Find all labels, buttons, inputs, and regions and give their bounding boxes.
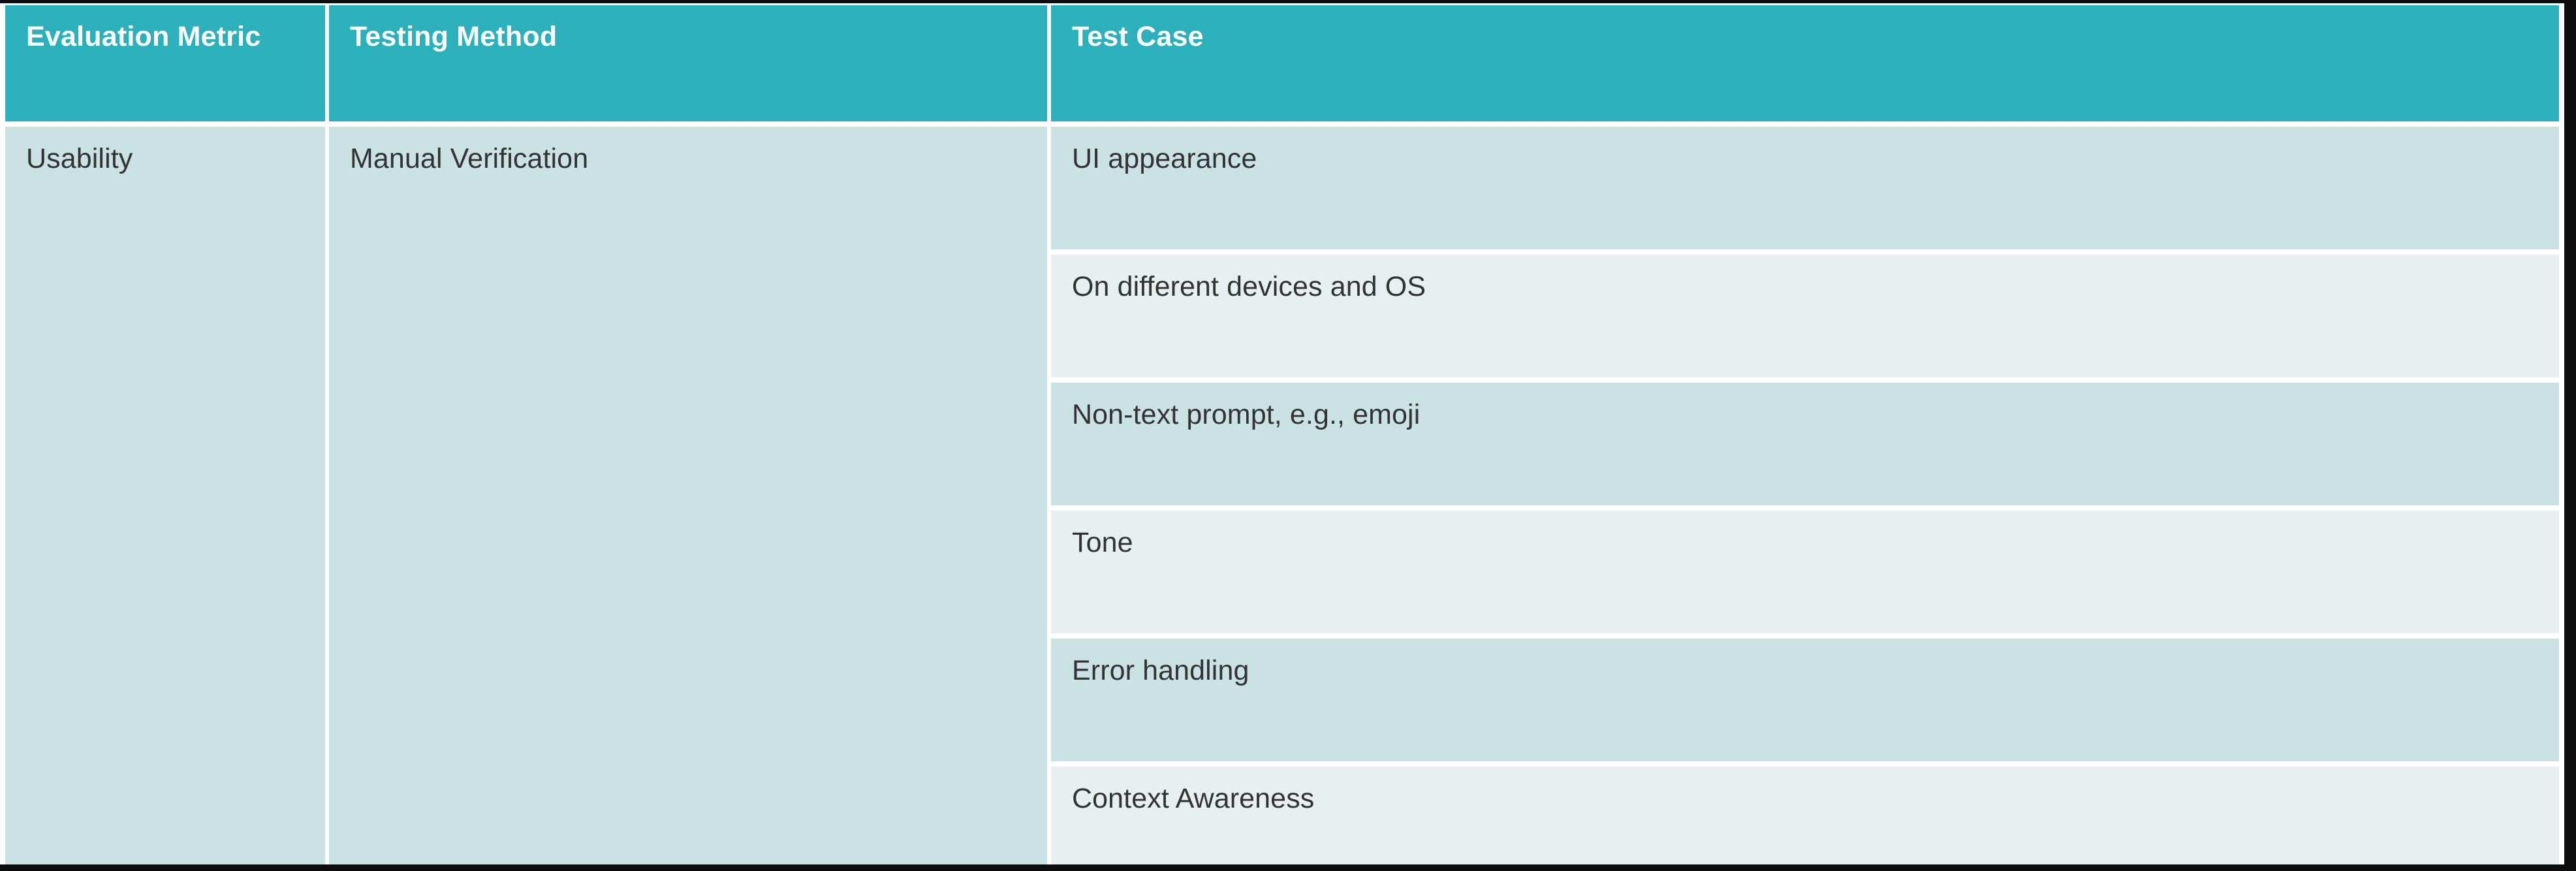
table-row: Usability Manual Verification UI appeara…: [5, 127, 2559, 249]
cell-test-case: Context Awareness: [1051, 767, 2559, 871]
cell-test-case: Non-text prompt, e.g., emoji: [1051, 383, 2559, 505]
cell-test-case: UI appearance: [1051, 127, 2559, 249]
cell-test-case: On different devices and OS: [1051, 255, 2559, 377]
table-header: Evaluation Metric Testing Method Test Ca…: [5, 5, 2559, 121]
column-header-test-case: Test Case: [1051, 5, 2559, 121]
page-frame: Evaluation Metric Testing Method Test Ca…: [0, 0, 2576, 871]
cell-evaluation-metric: Usability: [5, 127, 325, 871]
evaluation-metric-table: Evaluation Metric Testing Method Test Ca…: [1, 0, 2563, 871]
table-body: Usability Manual Verification UI appeara…: [5, 127, 2559, 871]
cell-test-case: Tone: [1051, 511, 2559, 633]
cell-testing-method: Manual Verification: [329, 127, 1047, 871]
column-header-testing-method: Testing Method: [329, 5, 1047, 121]
evaluation-table-container: Evaluation Metric Testing Method Test Ca…: [5, 5, 2559, 871]
table-header-row: Evaluation Metric Testing Method Test Ca…: [5, 5, 2559, 121]
column-header-evaluation-metric: Evaluation Metric: [5, 5, 325, 121]
cell-test-case: Error handling: [1051, 639, 2559, 761]
